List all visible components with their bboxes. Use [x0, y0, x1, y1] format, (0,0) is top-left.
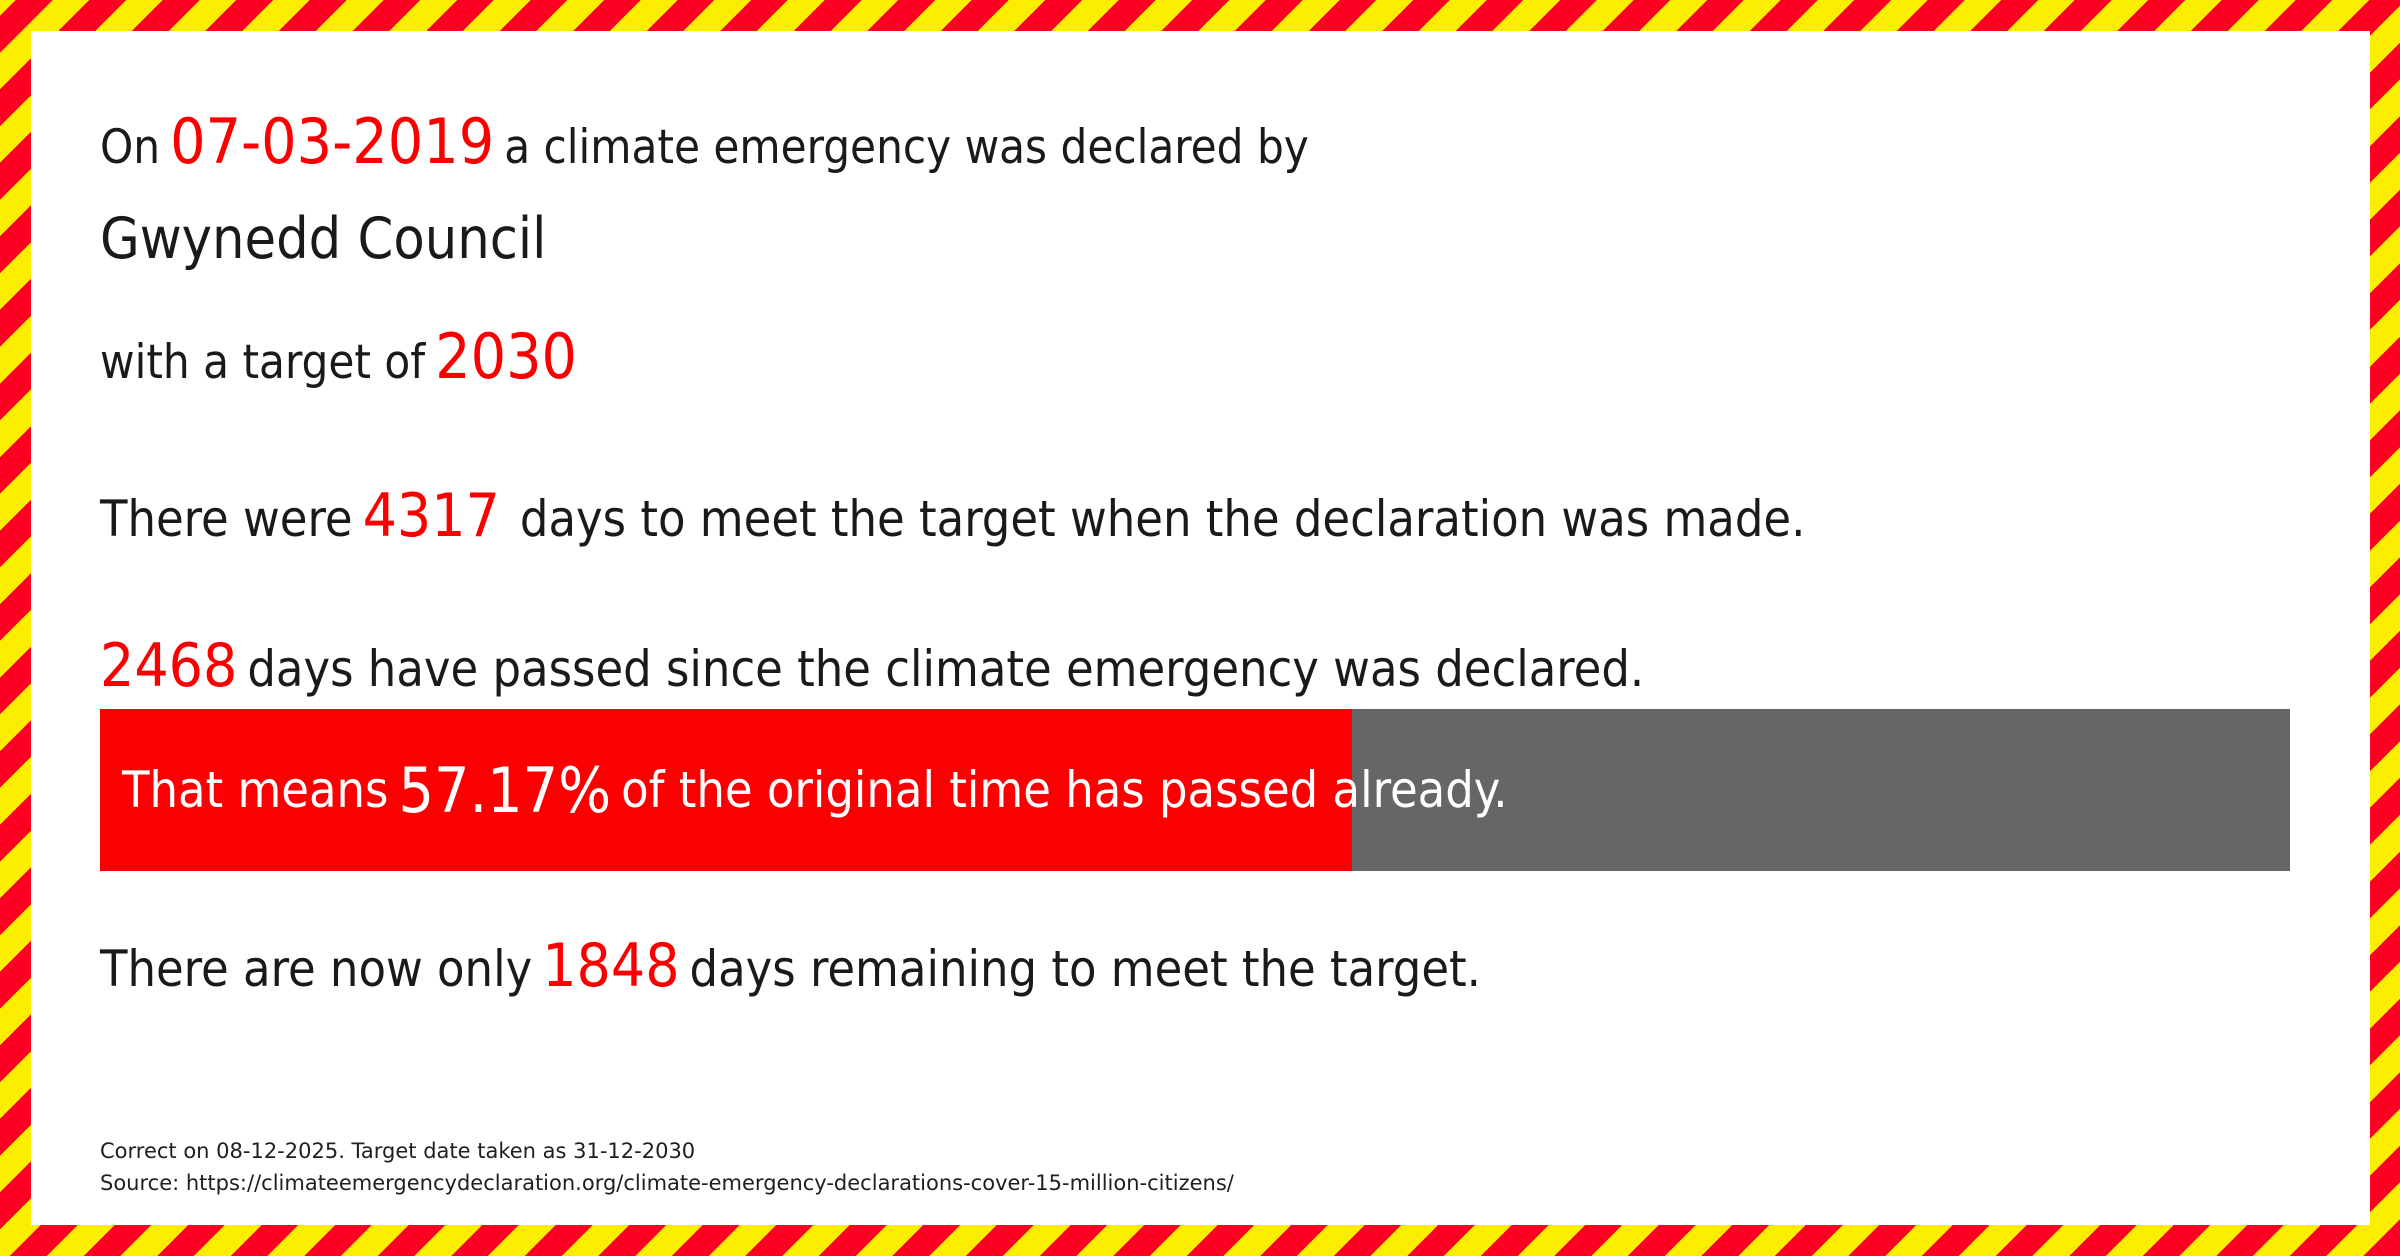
progress-percent: 57.17%: [388, 754, 621, 827]
target-prefix: with a target of: [100, 335, 425, 390]
were-prefix: There were: [100, 490, 353, 548]
days-passed-value: 2468: [100, 631, 237, 701]
declaration-suffix: a climate emergency was declared by: [504, 120, 1309, 175]
remaining-suffix: days remaining to meet the target.: [690, 940, 1481, 998]
poster-frame: On07-03-2019a climate emergency was decl…: [0, 0, 2400, 1256]
passed-suffix: days have passed since the climate emerg…: [237, 640, 1644, 698]
days-to-target-value: 4317: [353, 481, 510, 551]
target-year: 2030: [425, 320, 577, 393]
days-remaining-value: 1848: [532, 931, 689, 1001]
progress-label-prefix: That means: [122, 761, 388, 819]
council-name: Gwynedd Council: [100, 211, 546, 268]
target-line: with a target of2030: [100, 326, 577, 388]
days-passed-line: 2468days have passed since the climate e…: [100, 636, 1644, 696]
poster-content-area: On07-03-2019a climate emergency was decl…: [31, 31, 2370, 1225]
declaration-date: 07-03-2019: [160, 105, 504, 178]
remaining-prefix: There are now only: [100, 940, 532, 998]
days-remaining-line: There are now only1848days remaining to …: [100, 936, 1481, 996]
footer-source: Source: https://climateemergencydeclarat…: [100, 1171, 1234, 1195]
declaration-prefix: On: [100, 120, 160, 175]
footer-correct-on: Correct on 08-12-2025. Target date taken…: [100, 1139, 695, 1163]
time-elapsed-progress-bar: That means57.17%of the original time has…: [100, 709, 2290, 871]
declaration-date-line: On07-03-2019a climate emergency was decl…: [100, 111, 1309, 173]
were-suffix: days to meet the target when the declara…: [510, 490, 1805, 548]
days-to-target-line: There were4317days to meet the target wh…: [100, 486, 1805, 546]
progress-bar-label: That means57.17%of the original time has…: [122, 709, 1508, 871]
progress-label-suffix: of the original time has passed already.: [621, 761, 1507, 819]
